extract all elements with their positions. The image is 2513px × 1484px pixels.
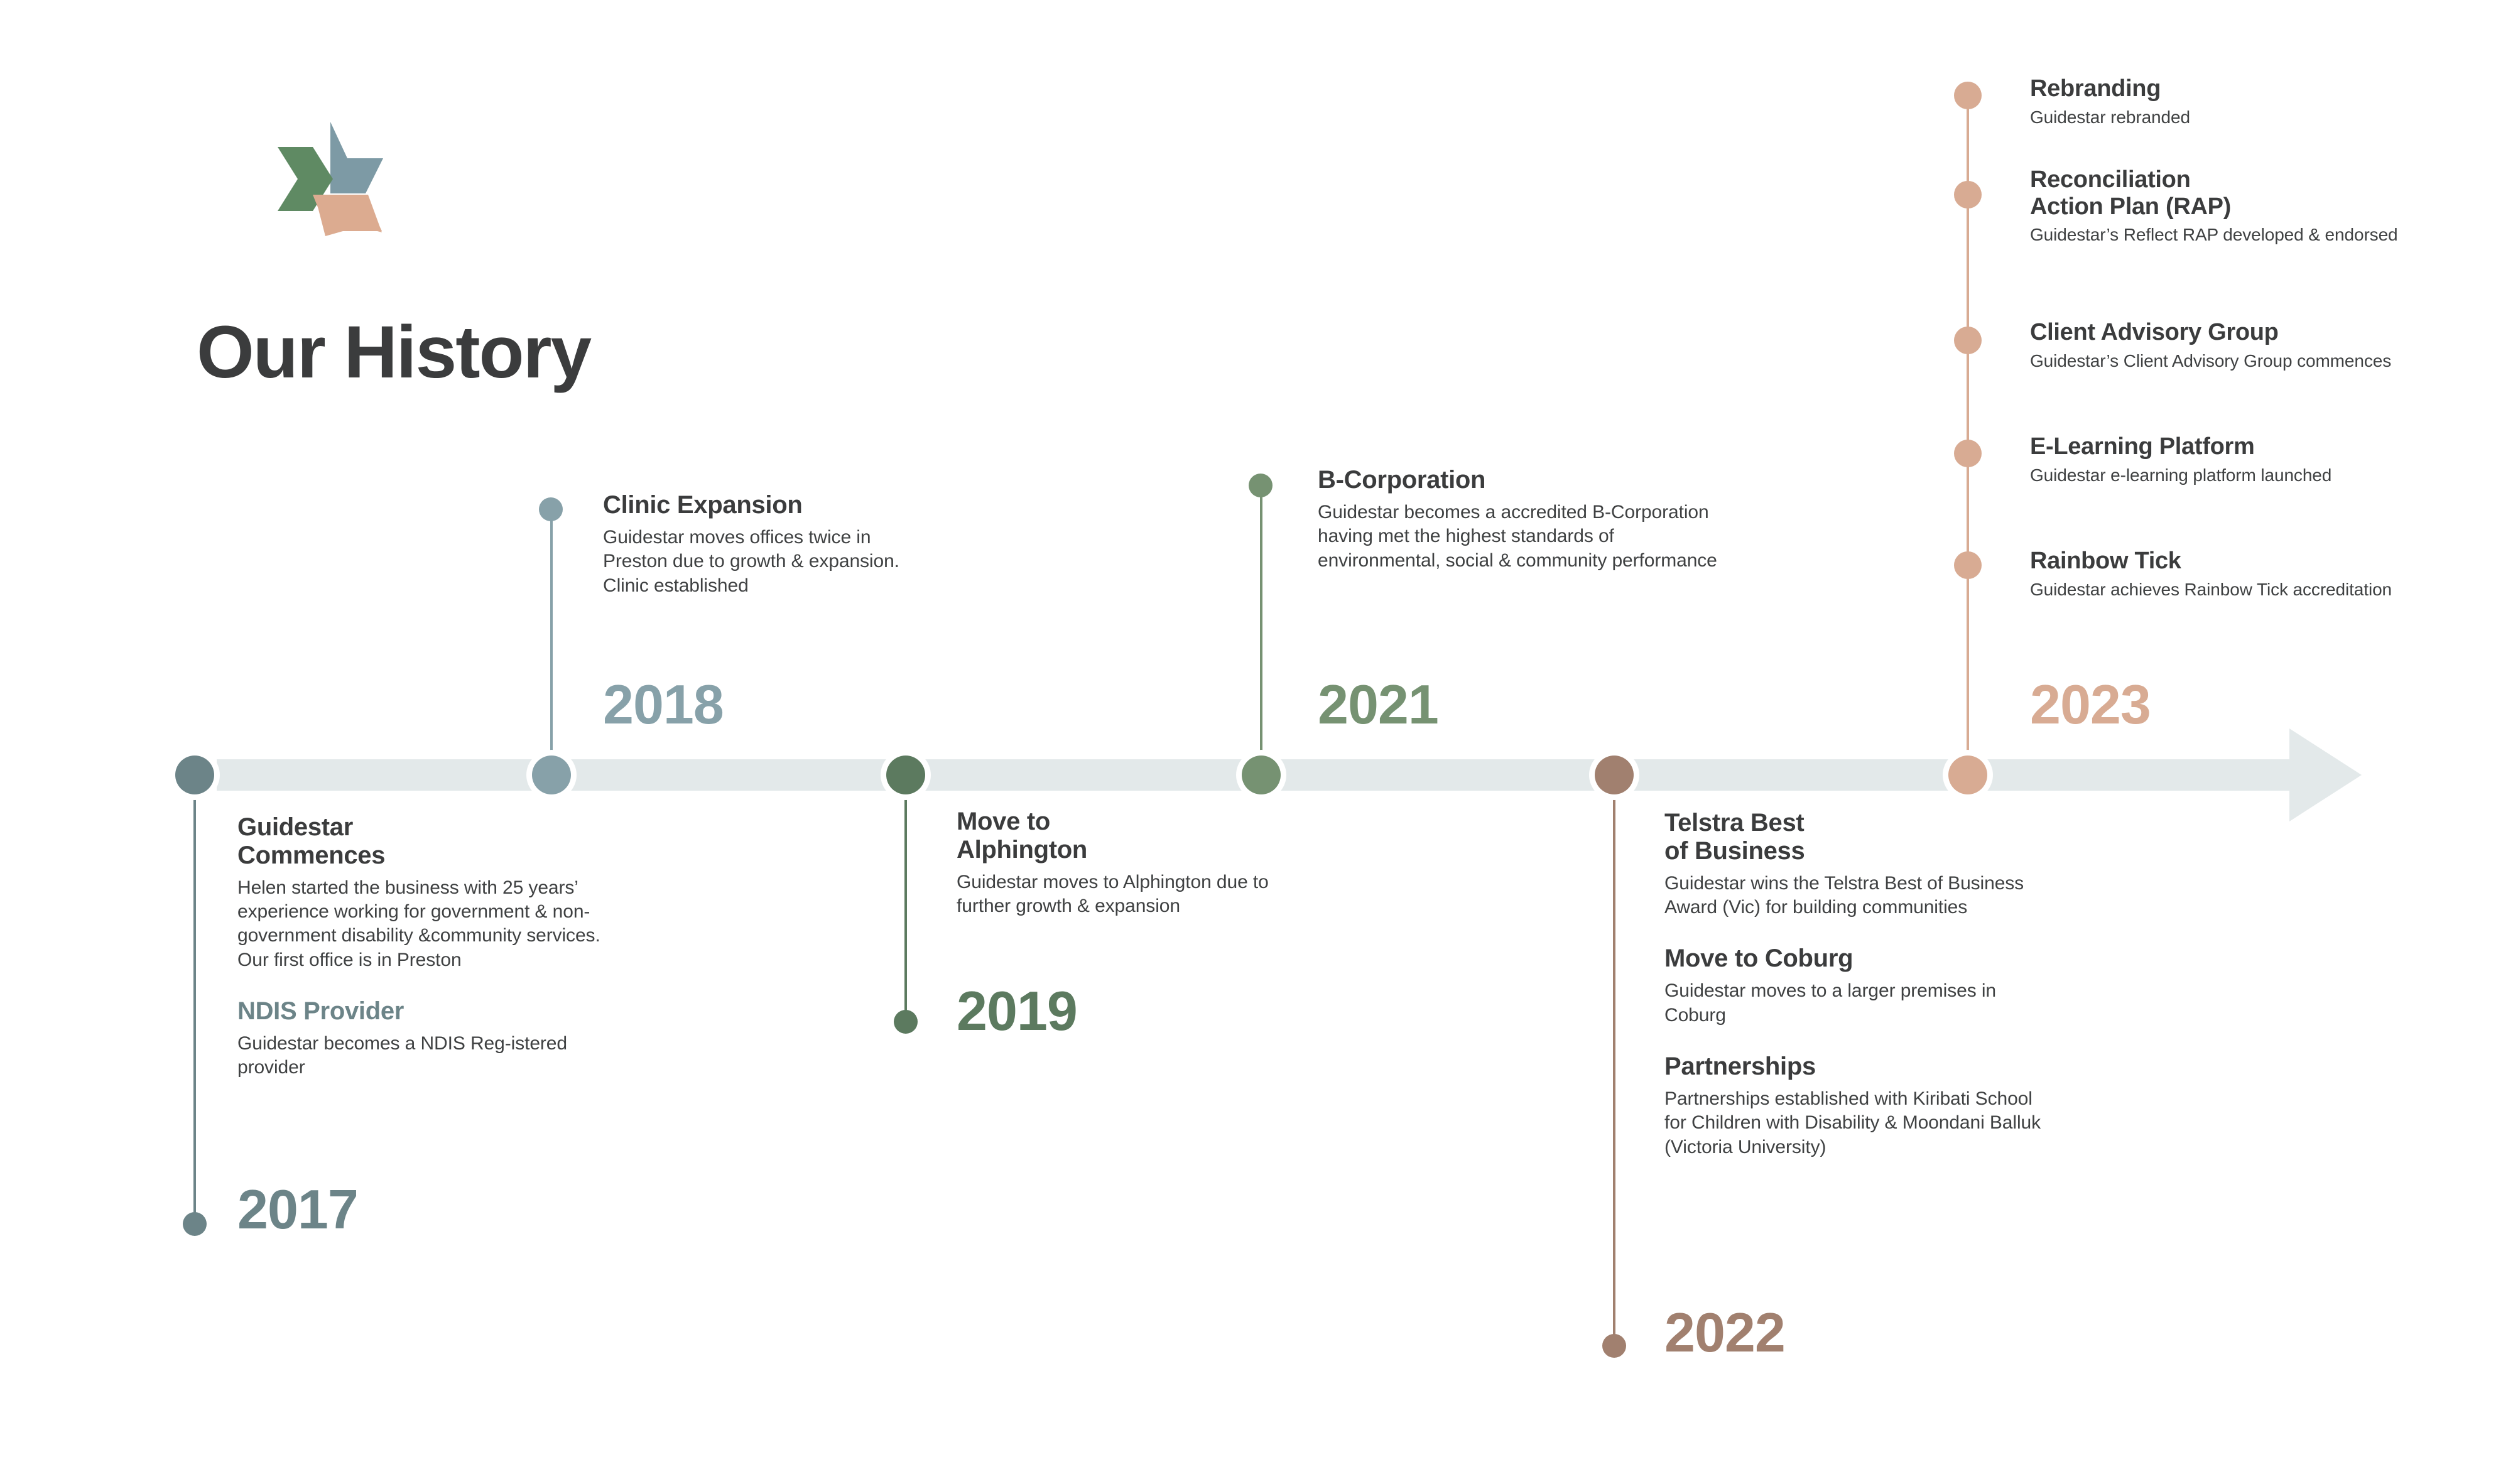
timeline-stem-2018 (550, 520, 553, 757)
milestone-2023-rainbow-tick: Rainbow Tick Guidestar achieves Rainbow … (2030, 548, 2470, 600)
timeline-node-2018[interactable] (532, 756, 571, 794)
milestone-2023-rainbow-desc: Guidestar achieves Rainbow Tick accredit… (2030, 578, 2470, 600)
milestone-2022: Telstra Best of Business Guidestar wins … (1664, 809, 2041, 1159)
milestone-2022-year: 2022 (1664, 1305, 1785, 1360)
milestone-2017-desc: Helen started the business with 25 years… (237, 876, 633, 973)
milestone-2019-title-line1: Move to (957, 808, 1050, 835)
milestone-2023-rap-title-line2: Action Plan (RAP) (2030, 193, 2231, 220)
timeline-node-2017[interactable] (175, 756, 214, 794)
milestone-2017-year: 2017 (237, 1182, 358, 1237)
timeline-stem-2019 (904, 791, 907, 1024)
milestone-2023-rebranding-title: Rebranding (2030, 75, 2457, 102)
milestone-2023-rainbow-title: Rainbow Tick (2030, 548, 2470, 575)
timeline-stem-2021 (1260, 496, 1262, 757)
milestone-2023-client-advisory-group: Client Advisory Group Guidestar’s Client… (2030, 319, 2470, 372)
milestone-2023-rebranding: Rebranding Guidestar rebranded (2030, 75, 2457, 128)
milestone-2023-rap-title: Reconciliation Action Plan (RAP) (2030, 166, 2457, 220)
timeline-end-dot-2017 (183, 1212, 207, 1236)
timeline-subnode-rebranding[interactable] (1954, 82, 1982, 109)
milestone-2022-coburg-title: Move to Coburg (1664, 945, 2041, 973)
timeline-stem-2022 (1613, 791, 1615, 1347)
milestone-2022-coburg-desc: Guidestar moves to a larger premises in … (1664, 979, 2041, 1027)
milestone-2021-desc: Guidestar becomes a accredited B-Corpora… (1318, 501, 1720, 573)
milestone-2023-elearning-desc: Guidestar e-learning platform launched (2030, 464, 2470, 486)
timeline-node-2019[interactable] (886, 756, 925, 794)
milestone-2017: Guidestar Commences Helen started the bu… (237, 813, 633, 1080)
milestone-2017-title-line2: Commences (237, 842, 385, 869)
milestone-2022-partnerships-title: Partnerships (1664, 1053, 2041, 1081)
milestone-2017-title: Guidestar Commences (237, 813, 633, 870)
milestone-2019-desc: Guidestar moves to Alphington due to fur… (957, 870, 1271, 919)
milestone-2022-telstra-title-line2: of Business (1664, 837, 1805, 865)
guidestar-star-logo (270, 119, 389, 239)
milestone-2021-year: 2021 (1318, 677, 1438, 732)
milestone-2023-cag-title: Client Advisory Group (2030, 319, 2470, 346)
milestone-2023-elearning-platform: E-Learning Platform Guidestar e-learning… (2030, 433, 2470, 486)
milestone-2019-year: 2019 (957, 983, 1077, 1039)
milestone-2023-rap-desc: Guidestar’s Reflect RAP developed & endo… (2030, 224, 2457, 246)
milestone-2023-year: 2023 (2030, 677, 2151, 732)
timeline-end-dot-2019 (894, 1010, 918, 1034)
timeline-stem-2017 (193, 791, 196, 1225)
milestone-2023-rap: Reconciliation Action Plan (RAP) Guidest… (2030, 166, 2457, 246)
page-title: Our History (197, 314, 590, 392)
milestone-2022-telstra-title: Telstra Best of Business (1664, 809, 2041, 865)
milestone-2022-partnerships-desc: Partnerships established with Kiribati S… (1664, 1087, 2041, 1159)
milestone-2019-title: Move to Alphington (957, 808, 1271, 864)
milestone-2017-ndis-title: NDIS Provider (237, 997, 633, 1026)
milestone-2023-cag-desc: Guidestar’s Client Advisory Group commen… (2030, 350, 2470, 372)
milestone-2017-ndis-desc: Guidestar becomes a NDIS Reg-istered pro… (237, 1032, 633, 1080)
timeline-node-2021[interactable] (1242, 756, 1281, 794)
milestone-2018: Clinic Expansion Guidestar moves offices… (603, 491, 930, 598)
milestone-2018-title: Clinic Expansion (603, 491, 930, 519)
timeline-infographic: Our History Guidestar Commences Helen st… (0, 0, 2513, 1484)
timeline-arrow-head-icon (2289, 728, 2362, 821)
milestone-2017-title-line1: Guidestar (237, 813, 353, 841)
milestone-2019: Move to Alphington Guidestar moves to Al… (957, 808, 1271, 918)
timeline-subnode-rainbow-tick[interactable] (1954, 551, 1982, 579)
milestone-2021-title: B-Corporation (1318, 466, 1720, 494)
milestone-2023-rap-title-line1: Reconciliation (2030, 166, 2191, 193)
timeline-end-dot-2021 (1249, 474, 1273, 497)
timeline-end-dot-2022 (1602, 1334, 1626, 1358)
timeline-end-dot-2018 (539, 497, 563, 521)
milestone-2022-telstra-title-line1: Telstra Best (1664, 809, 1804, 837)
milestone-2018-desc: Guidestar moves offices twice in Preston… (603, 526, 930, 598)
milestone-2023-rebranding-desc: Guidestar rebranded (2030, 106, 2457, 128)
timeline-subnode-rap[interactable] (1954, 181, 1982, 209)
milestone-2018-year: 2018 (603, 677, 724, 732)
timeline-node-2023[interactable] (1948, 756, 1987, 794)
timeline-subnode-client-advisory-group[interactable] (1954, 327, 1982, 354)
milestone-2019-title-line2: Alphington (957, 836, 1087, 864)
timeline-node-2022[interactable] (1595, 756, 1634, 794)
milestone-2022-telstra-desc: Guidestar wins the Telstra Best of Busin… (1664, 872, 2041, 920)
milestone-2021: B-Corporation Guidestar becomes a accred… (1318, 466, 1720, 573)
timeline-subnode-elearning-platform[interactable] (1954, 440, 1982, 467)
milestone-2023-elearning-title: E-Learning Platform (2030, 433, 2470, 460)
